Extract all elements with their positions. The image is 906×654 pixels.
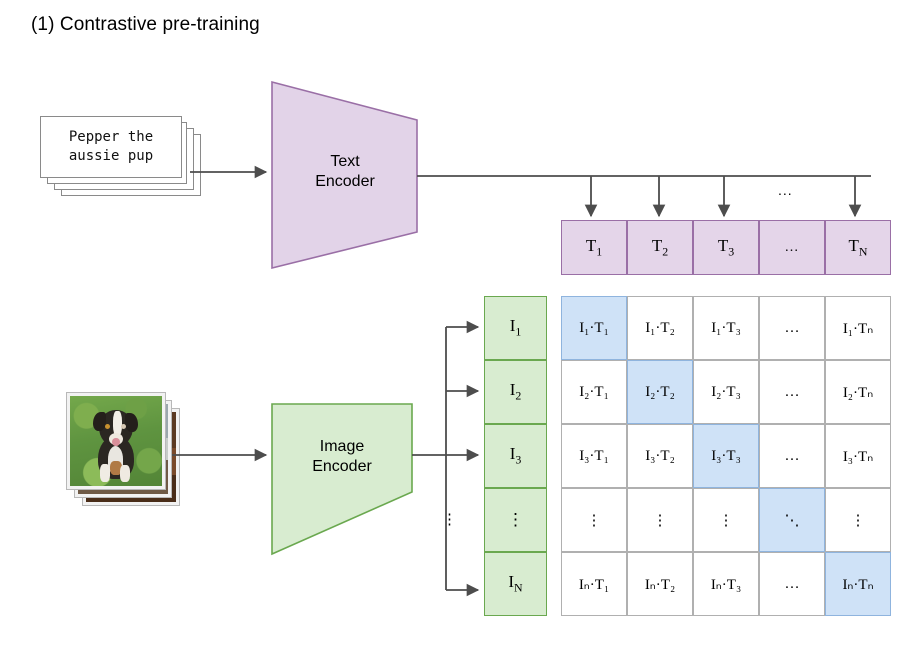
- text-embedding-N: TN: [825, 220, 891, 275]
- image-embedding-2: I2: [484, 360, 547, 424]
- embedding-label: TN: [849, 236, 868, 259]
- matrix-cell-r3-c5: I₃·Tₙ: [825, 424, 891, 488]
- matrix-cell-r1-c1: I₁·T₁: [561, 296, 627, 360]
- image-encoder-shape: [272, 404, 412, 554]
- image-bus-ellipsis: ⋮: [442, 510, 457, 528]
- image-embedding-3: I3: [484, 424, 547, 488]
- text-input-card: Pepper the aussie pup: [40, 116, 182, 178]
- image-embedding-ellipsis: ⋮: [484, 488, 547, 552]
- embedding-label: I2: [510, 380, 522, 403]
- matrix-cell-r2-c5: I₂·Tₙ: [825, 360, 891, 424]
- embedding-label: IN: [508, 572, 522, 595]
- matrix-cell-r1-c4: …: [759, 296, 825, 360]
- embedding-label: I1: [510, 316, 522, 339]
- matrix-cell-r4-c3: ⋮: [693, 488, 759, 552]
- matrix-cell-r3-c1: I₃·T₁: [561, 424, 627, 488]
- matrix-cell-r4-c5: ⋮: [825, 488, 891, 552]
- embedding-label: ⋮: [507, 510, 524, 530]
- matrix-cell-r5-c5: Iₙ·Tₙ: [825, 552, 891, 616]
- matrix-cell-r2-c1: I₂·T₁: [561, 360, 627, 424]
- matrix-cell-r2-c3: I₂·T₃: [693, 360, 759, 424]
- text-embedding-1: T1: [561, 220, 627, 275]
- embedding-label: T1: [586, 236, 602, 259]
- photo-dog-left-paw: [100, 464, 110, 482]
- image-input-photo: [67, 393, 165, 489]
- embedding-label: T2: [652, 236, 668, 259]
- matrix-cell-r1-c5: I₁·Tₙ: [825, 296, 891, 360]
- matrix-cell-r5-c4: …: [759, 552, 825, 616]
- text-bus-ellipsis: ...: [778, 182, 793, 198]
- matrix-cell-r3-c4: …: [759, 424, 825, 488]
- page-title: (1) Contrastive pre-training: [31, 14, 260, 36]
- embedding-label: I3: [510, 444, 522, 467]
- matrix-cell-r3-c2: I₃·T₂: [627, 424, 693, 488]
- matrix-cell-r1-c3: I₁·T₃: [693, 296, 759, 360]
- photo-dog-tongue: [112, 438, 119, 446]
- embedding-label: T3: [718, 236, 734, 259]
- image-encoder-label: Image Encoder: [282, 437, 402, 477]
- image-embedding-1: I1: [484, 296, 547, 360]
- matrix-cell-r4-c1: ⋮: [561, 488, 627, 552]
- text-embedding-3: T3: [693, 220, 759, 275]
- diagram-canvas: (1) Contrastive pre-training Pepper the …: [0, 0, 906, 654]
- matrix-cell-r5-c2: Iₙ·T₂: [627, 552, 693, 616]
- matrix-cell-r2-c4: …: [759, 360, 825, 424]
- text-embedding-ellipsis: …: [759, 220, 825, 275]
- matrix-cell-r5-c3: Iₙ·T₃: [693, 552, 759, 616]
- photo-dog-right-paw: [120, 465, 130, 482]
- image-embedding-N: IN: [484, 552, 547, 616]
- matrix-cell-r4-c4: ⋱: [759, 488, 825, 552]
- matrix-cell-r4-c2: ⋮: [627, 488, 693, 552]
- matrix-cell-r5-c1: Iₙ·T₁: [561, 552, 627, 616]
- text-input-caption: Pepper the aussie pup: [69, 128, 153, 166]
- text-encoder-label: Text Encoder: [285, 152, 405, 192]
- text-embedding-2: T2: [627, 220, 693, 275]
- matrix-cell-r1-c2: I₁·T₂: [627, 296, 693, 360]
- photo-dog-left-ear: [93, 412, 106, 431]
- embedding-label: …: [785, 240, 800, 256]
- matrix-cell-r2-c2: I₂·T₂: [627, 360, 693, 424]
- matrix-cell-r3-c3: I₃·T₃: [693, 424, 759, 488]
